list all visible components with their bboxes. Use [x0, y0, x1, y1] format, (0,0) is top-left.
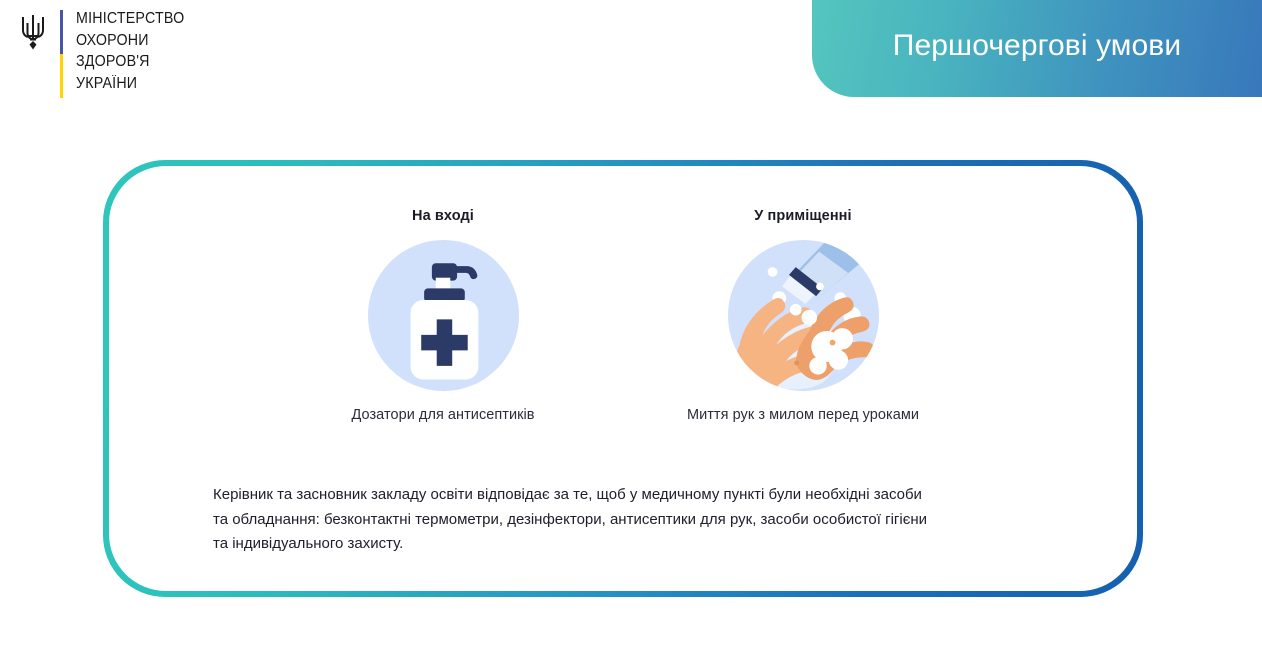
ukraine-flag-divider-icon: [60, 10, 63, 98]
ministry-line-4: УКРАЇНИ: [76, 73, 184, 95]
measure-caption-entrance: Дозатори для антисептиків: [351, 407, 534, 423]
handwashing-with-soap-icon: [726, 238, 881, 393]
description-line-2: та обладнання: безконтактні термометри, …: [213, 508, 1068, 533]
description-line-1: Керівник та засновник закладу освіти від…: [213, 483, 1068, 508]
measure-caption-indoors: Миття рук з милом перед уроками: [687, 407, 919, 423]
page-header: МІНІСТЕРСТВО ОХОРОНИ ЗДОРОВ'Я УКРАЇНИ Пе…: [0, 0, 1262, 110]
measure-column-entrance: На вході Дозатори для антисептиків: [298, 208, 588, 423]
ministry-line-2: ОХОРОНИ: [76, 30, 184, 52]
ukraine-trident-icon: [18, 12, 48, 52]
hand-sanitizer-dispenser-icon: [366, 238, 521, 393]
measure-column-indoors: У приміщенні: [658, 208, 948, 423]
card-body: На вході Дозатори для антисептиків: [109, 166, 1137, 591]
measures-icon-row: На вході Дозатори для антисептиків: [109, 208, 1137, 423]
ministry-logo: МІНІСТЕРСТВО ОХОРОНИ ЗДОРОВ'Я УКРАЇНИ: [18, 8, 194, 98]
measure-heading-indoors: У приміщенні: [754, 208, 851, 224]
measure-heading-entrance: На вході: [412, 208, 474, 224]
ministry-name: МІНІСТЕРСТВО ОХОРОНИ ЗДОРОВ'Я УКРАЇНИ: [76, 8, 194, 94]
slide-title: Першочергові умови: [893, 29, 1181, 63]
ministry-line-3: ЗДОРОВ'Я: [76, 51, 184, 73]
ministry-line-1: МІНІСТЕРСТВО: [76, 8, 184, 30]
content-card: На вході Дозатори для антисептиків: [103, 160, 1143, 597]
description-line-3: та індивідуального захисту.: [213, 532, 1068, 557]
card-gradient-border: На вході Дозатори для антисептиків: [103, 160, 1143, 597]
card-description: Керівник та засновник закладу освіти від…: [213, 483, 1068, 557]
slide-title-banner: Першочергові умови: [812, 0, 1262, 97]
